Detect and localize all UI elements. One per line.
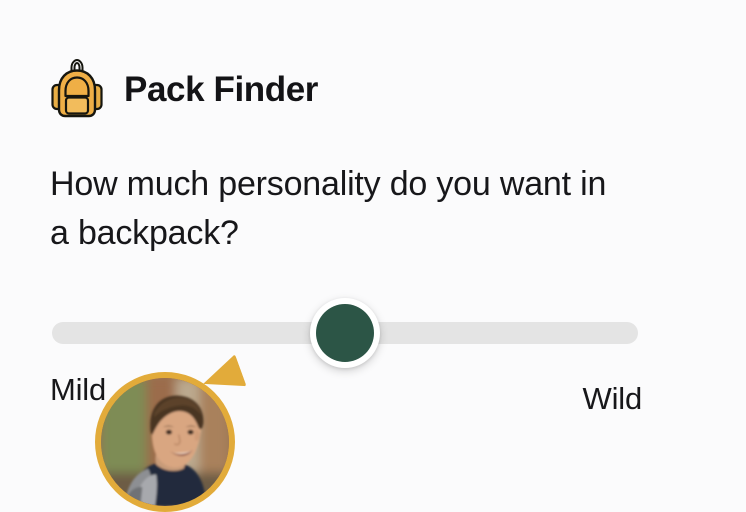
slider-label-max: Wild xyxy=(583,383,642,414)
personality-slider[interactable] xyxy=(52,310,638,356)
question-text: How much personality do you want in a ba… xyxy=(50,160,610,259)
backpack-icon xyxy=(50,58,104,120)
slider-thumb[interactable] xyxy=(310,298,380,368)
avatar-photo xyxy=(101,378,229,506)
avatar-ring xyxy=(95,372,235,512)
student-avatar[interactable] xyxy=(93,366,238,511)
slider-thumb-inner xyxy=(316,304,374,362)
brand-title: Pack Finder xyxy=(124,72,318,107)
brand-header: Pack Finder xyxy=(50,58,318,120)
